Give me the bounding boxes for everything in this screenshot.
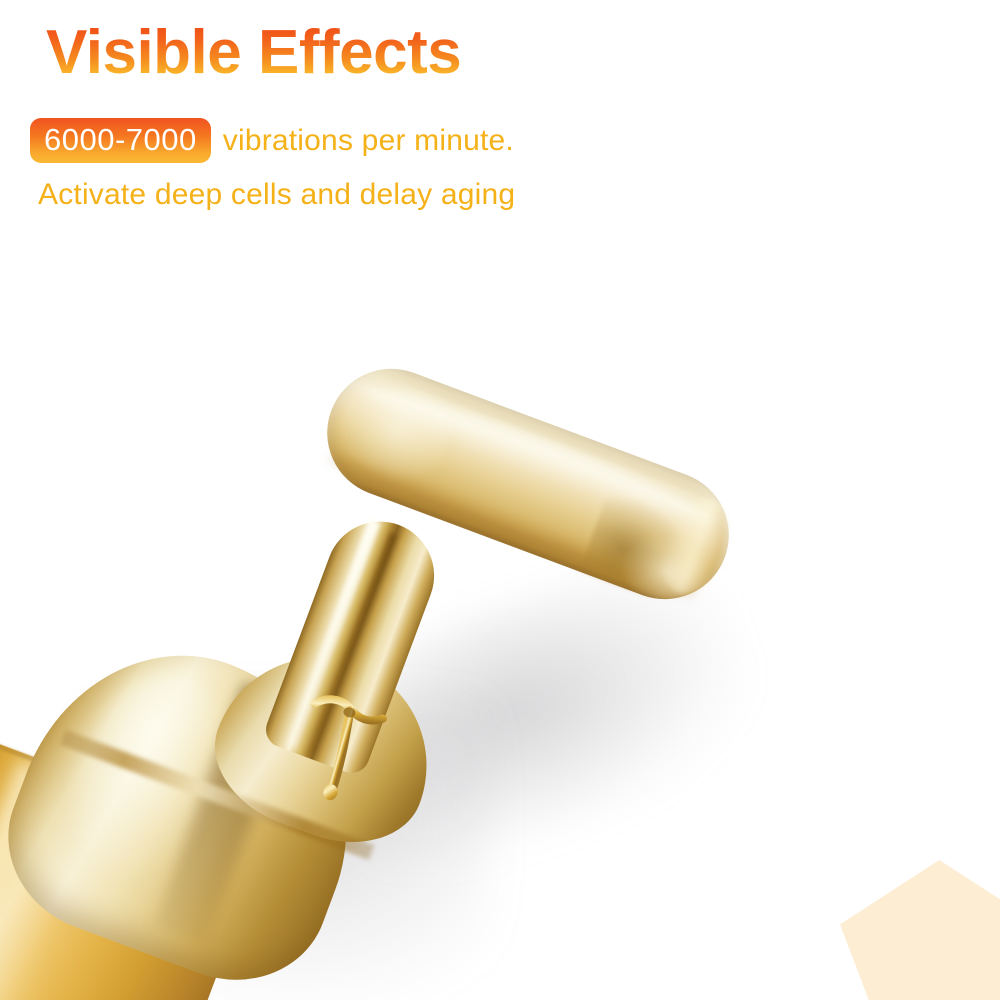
page-title: Visible Effects bbox=[46, 22, 461, 84]
subtitle-line-1: 6000-7000 vibrations per minute. bbox=[30, 118, 514, 163]
product-banner: Visible Effects 6000-7000 vibrations per… bbox=[0, 0, 1000, 1000]
vibration-rate-badge: 6000-7000 bbox=[30, 118, 211, 163]
subtitle-text-primary: vibrations per minute. bbox=[223, 124, 514, 158]
subtitle-text-secondary: Activate deep cells and delay aging bbox=[38, 178, 515, 212]
